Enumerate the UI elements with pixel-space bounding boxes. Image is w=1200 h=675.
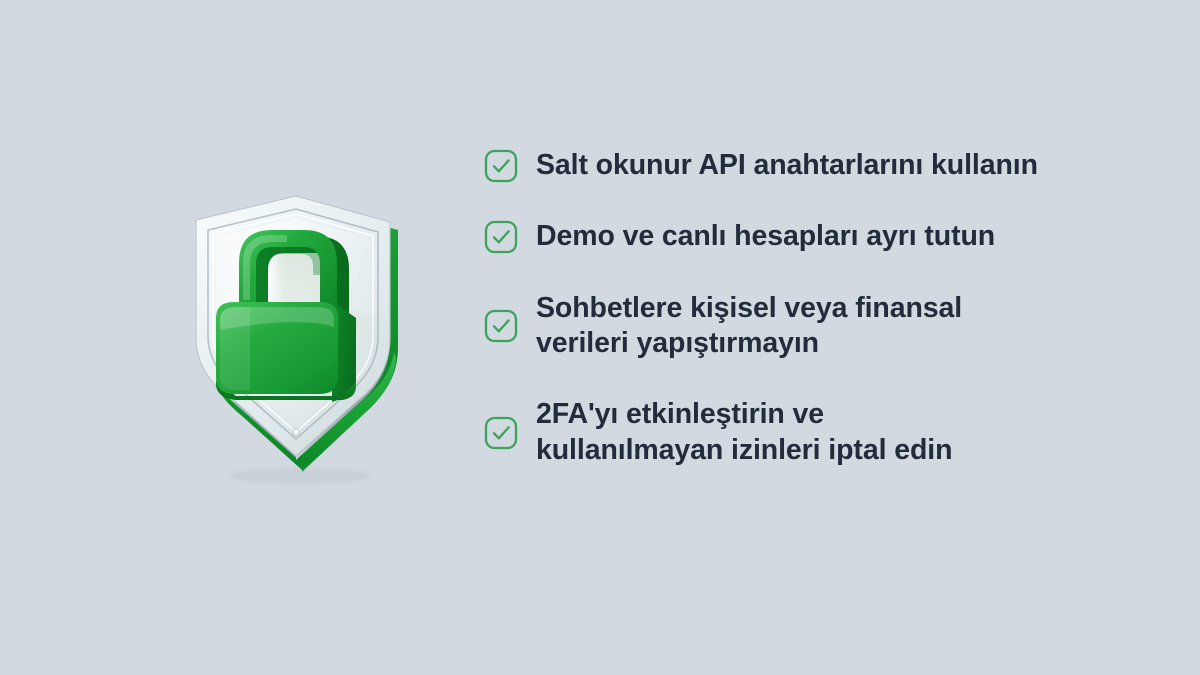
list-item: Salt okunur API anahtarlarını kullanın [484,148,1124,183]
shield-rim-dot [294,430,298,434]
list-item-label: 2FA'yı etkinleştirin ve kullanılmayan iz… [536,397,952,468]
check-square-icon [484,309,518,343]
list-item-label: Salt okunur API anahtarlarını kullanın [536,148,1038,183]
list-item-label: Demo ve canlı hesapları ayrı tutun [536,219,995,254]
security-shield-illustration [150,180,470,500]
shield-lock-icon [150,180,470,500]
check-square-icon [484,220,518,254]
checklist: Salt okunur API anahtarlarını kullanın D… [484,148,1124,468]
ground-shadow [230,468,370,484]
lock-body-sheen [220,307,250,390]
check-square-icon [484,416,518,450]
slide-root: Salt okunur API anahtarlarını kullanın D… [0,0,1200,675]
list-item-label: Sohbetlere kişisel veya finansal veriler… [536,291,962,362]
check-square-icon [484,149,518,183]
list-item: Demo ve canlı hesapları ayrı tutun [484,219,1124,254]
list-item: Sohbetlere kişisel veya finansal veriler… [484,291,1124,362]
list-item: 2FA'yı etkinleştirin ve kullanılmayan iz… [484,397,1124,468]
